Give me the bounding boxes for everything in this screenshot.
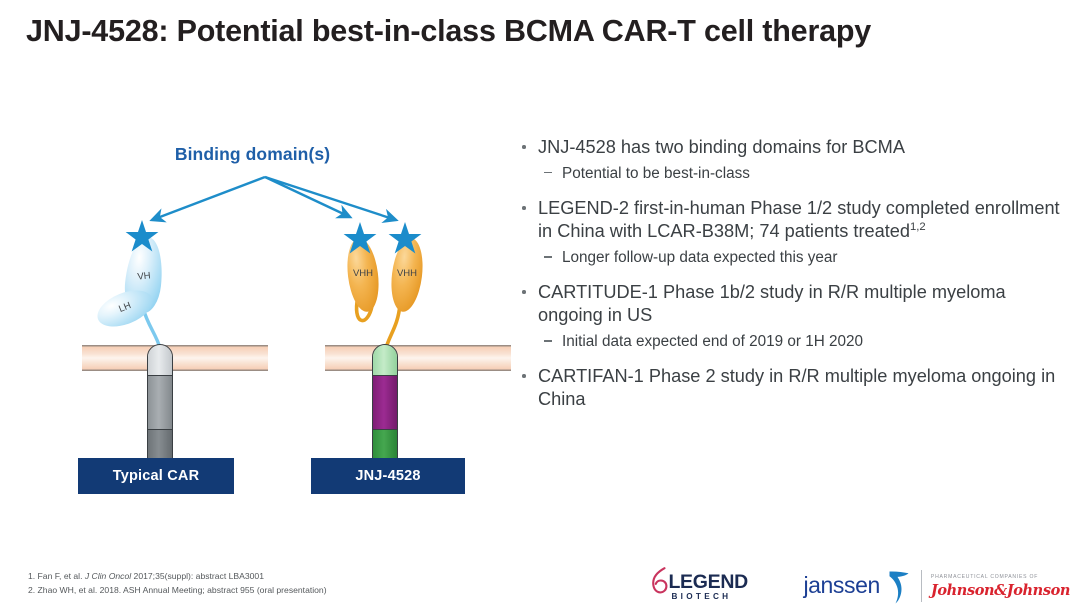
bullet-secondary: Potential to be best-in-class — [516, 164, 1068, 184]
janssen-logo: janssen PHARMACEUTICAL COMPANIES OF John… — [803, 564, 1070, 608]
bullet-secondary-text: Longer follow-up data expected this year — [562, 249, 838, 266]
bullet-primary-text: CARTITUDE-1 Phase 1b/2 study in R/R mult… — [538, 282, 1006, 325]
bullet-dot-icon — [522, 290, 526, 294]
jnj-wordmark: Johnson&Johnson — [931, 582, 1070, 599]
jnj4528-car-body — [372, 344, 398, 474]
bullet-dash-icon — [544, 172, 552, 173]
jnj4528-segment-costimulatory — [373, 376, 397, 430]
typical-car-segment-transmembrane — [148, 345, 172, 376]
cell-membrane-typical — [82, 345, 268, 371]
bullet-group: LEGEND-2 first-in-human Phase 1/2 study … — [516, 197, 1068, 268]
caption-typical-car: Typical CAR — [78, 458, 234, 494]
footnotes: 1. Fan F, et al. J Clin Oncol 2017;35(su… — [28, 570, 327, 598]
vhh-domain-label-1: VHH — [348, 268, 378, 279]
bullet-primary: LEGEND-2 first-in-human Phase 1/2 study … — [516, 197, 1068, 243]
key-points-list: JNJ-4528 has two binding domains for BCM… — [516, 136, 1068, 424]
bullet-primary: JNJ-4528 has two binding domains for BCM… — [516, 136, 1068, 159]
bullet-dash-icon — [544, 340, 552, 341]
bullet-group: CARTIFAN-1 Phase 2 study in R/R multiple… — [516, 365, 1068, 411]
legend-wordmark: LEGEND — [668, 571, 747, 594]
bullet-primary-text: LEGEND-2 first-in-human Phase 1/2 study … — [538, 198, 1060, 241]
johnson-and-johnson-logo: PHARMACEUTICAL COMPANIES OF Johnson&John… — [931, 574, 1070, 599]
jnj4528-segment-transmembrane — [373, 345, 397, 376]
citation-superscript: 1,2 — [910, 221, 926, 233]
caption-jnj4528: JNJ-4528 — [311, 458, 465, 494]
footnote-suffix: 2017;35(suppl): abstract LBA3001 — [131, 571, 264, 581]
janssen-flame-icon — [886, 567, 912, 605]
bullet-dot-icon — [522, 206, 526, 210]
footnote-prefix: 1. Fan F, et al. — [28, 571, 85, 581]
bullet-primary-text: CARTIFAN-1 Phase 2 study in R/R multiple… — [538, 366, 1055, 409]
bullet-dot-icon — [522, 374, 526, 378]
footnote-journal: J Clin Oncol — [85, 571, 131, 581]
legend-biotech-logo: LEGEND BIOTECH — [649, 564, 767, 608]
bullet-secondary-text: Initial data expected end of 2019 or 1H … — [562, 333, 863, 350]
typical-car-body — [147, 344, 173, 474]
cell-membrane-jnj — [325, 345, 511, 371]
footnote-item: 1. Fan F, et al. J Clin Oncol 2017;35(su… — [28, 570, 327, 584]
vhh-domain-label-2: VHH — [392, 268, 422, 279]
bullet-primary: CARTITUDE-1 Phase 1b/2 study in R/R mult… — [516, 281, 1068, 327]
footnote-item: 2. Zhao WH, et al. 2018. ASH Annual Meet… — [28, 584, 327, 598]
bullet-primary-text: JNJ-4528 has two binding domains for BCM… — [538, 137, 905, 157]
logo-bar: LEGEND BIOTECH janssen PHARMACEUTICAL CO… — [649, 562, 1070, 610]
bullet-primary: CARTIFAN-1 Phase 2 study in R/R multiple… — [516, 365, 1068, 411]
bullet-secondary: Initial data expected end of 2019 or 1H … — [516, 332, 1068, 352]
jnj-tagline: PHARMACEUTICAL COMPANIES OF — [931, 574, 1070, 580]
page-title: JNJ-4528: Potential best-in-class BCMA C… — [26, 12, 1026, 51]
bullet-dash-icon — [544, 256, 552, 257]
legend-subtitle: BIOTECH — [671, 592, 731, 601]
janssen-wordmark: janssen — [803, 574, 879, 599]
typical-car-segment-costimulatory — [148, 376, 172, 430]
bullet-group: CARTITUDE-1 Phase 1b/2 study in R/R mult… — [516, 281, 1068, 352]
logo-divider — [921, 570, 922, 602]
bullet-secondary-text: Potential to be best-in-class — [562, 165, 750, 182]
bullet-group: JNJ-4528 has two binding domains for BCM… — [516, 136, 1068, 184]
linker-chains — [0, 130, 505, 510]
car-construct-diagram: Binding domain(s) — [0, 130, 505, 510]
bullet-secondary: Longer follow-up data expected this year — [516, 248, 1068, 268]
footnote-prefix: 2. Zhao WH, et al. 2018. ASH Annual Meet… — [28, 585, 327, 595]
bullet-dot-icon — [522, 145, 526, 149]
